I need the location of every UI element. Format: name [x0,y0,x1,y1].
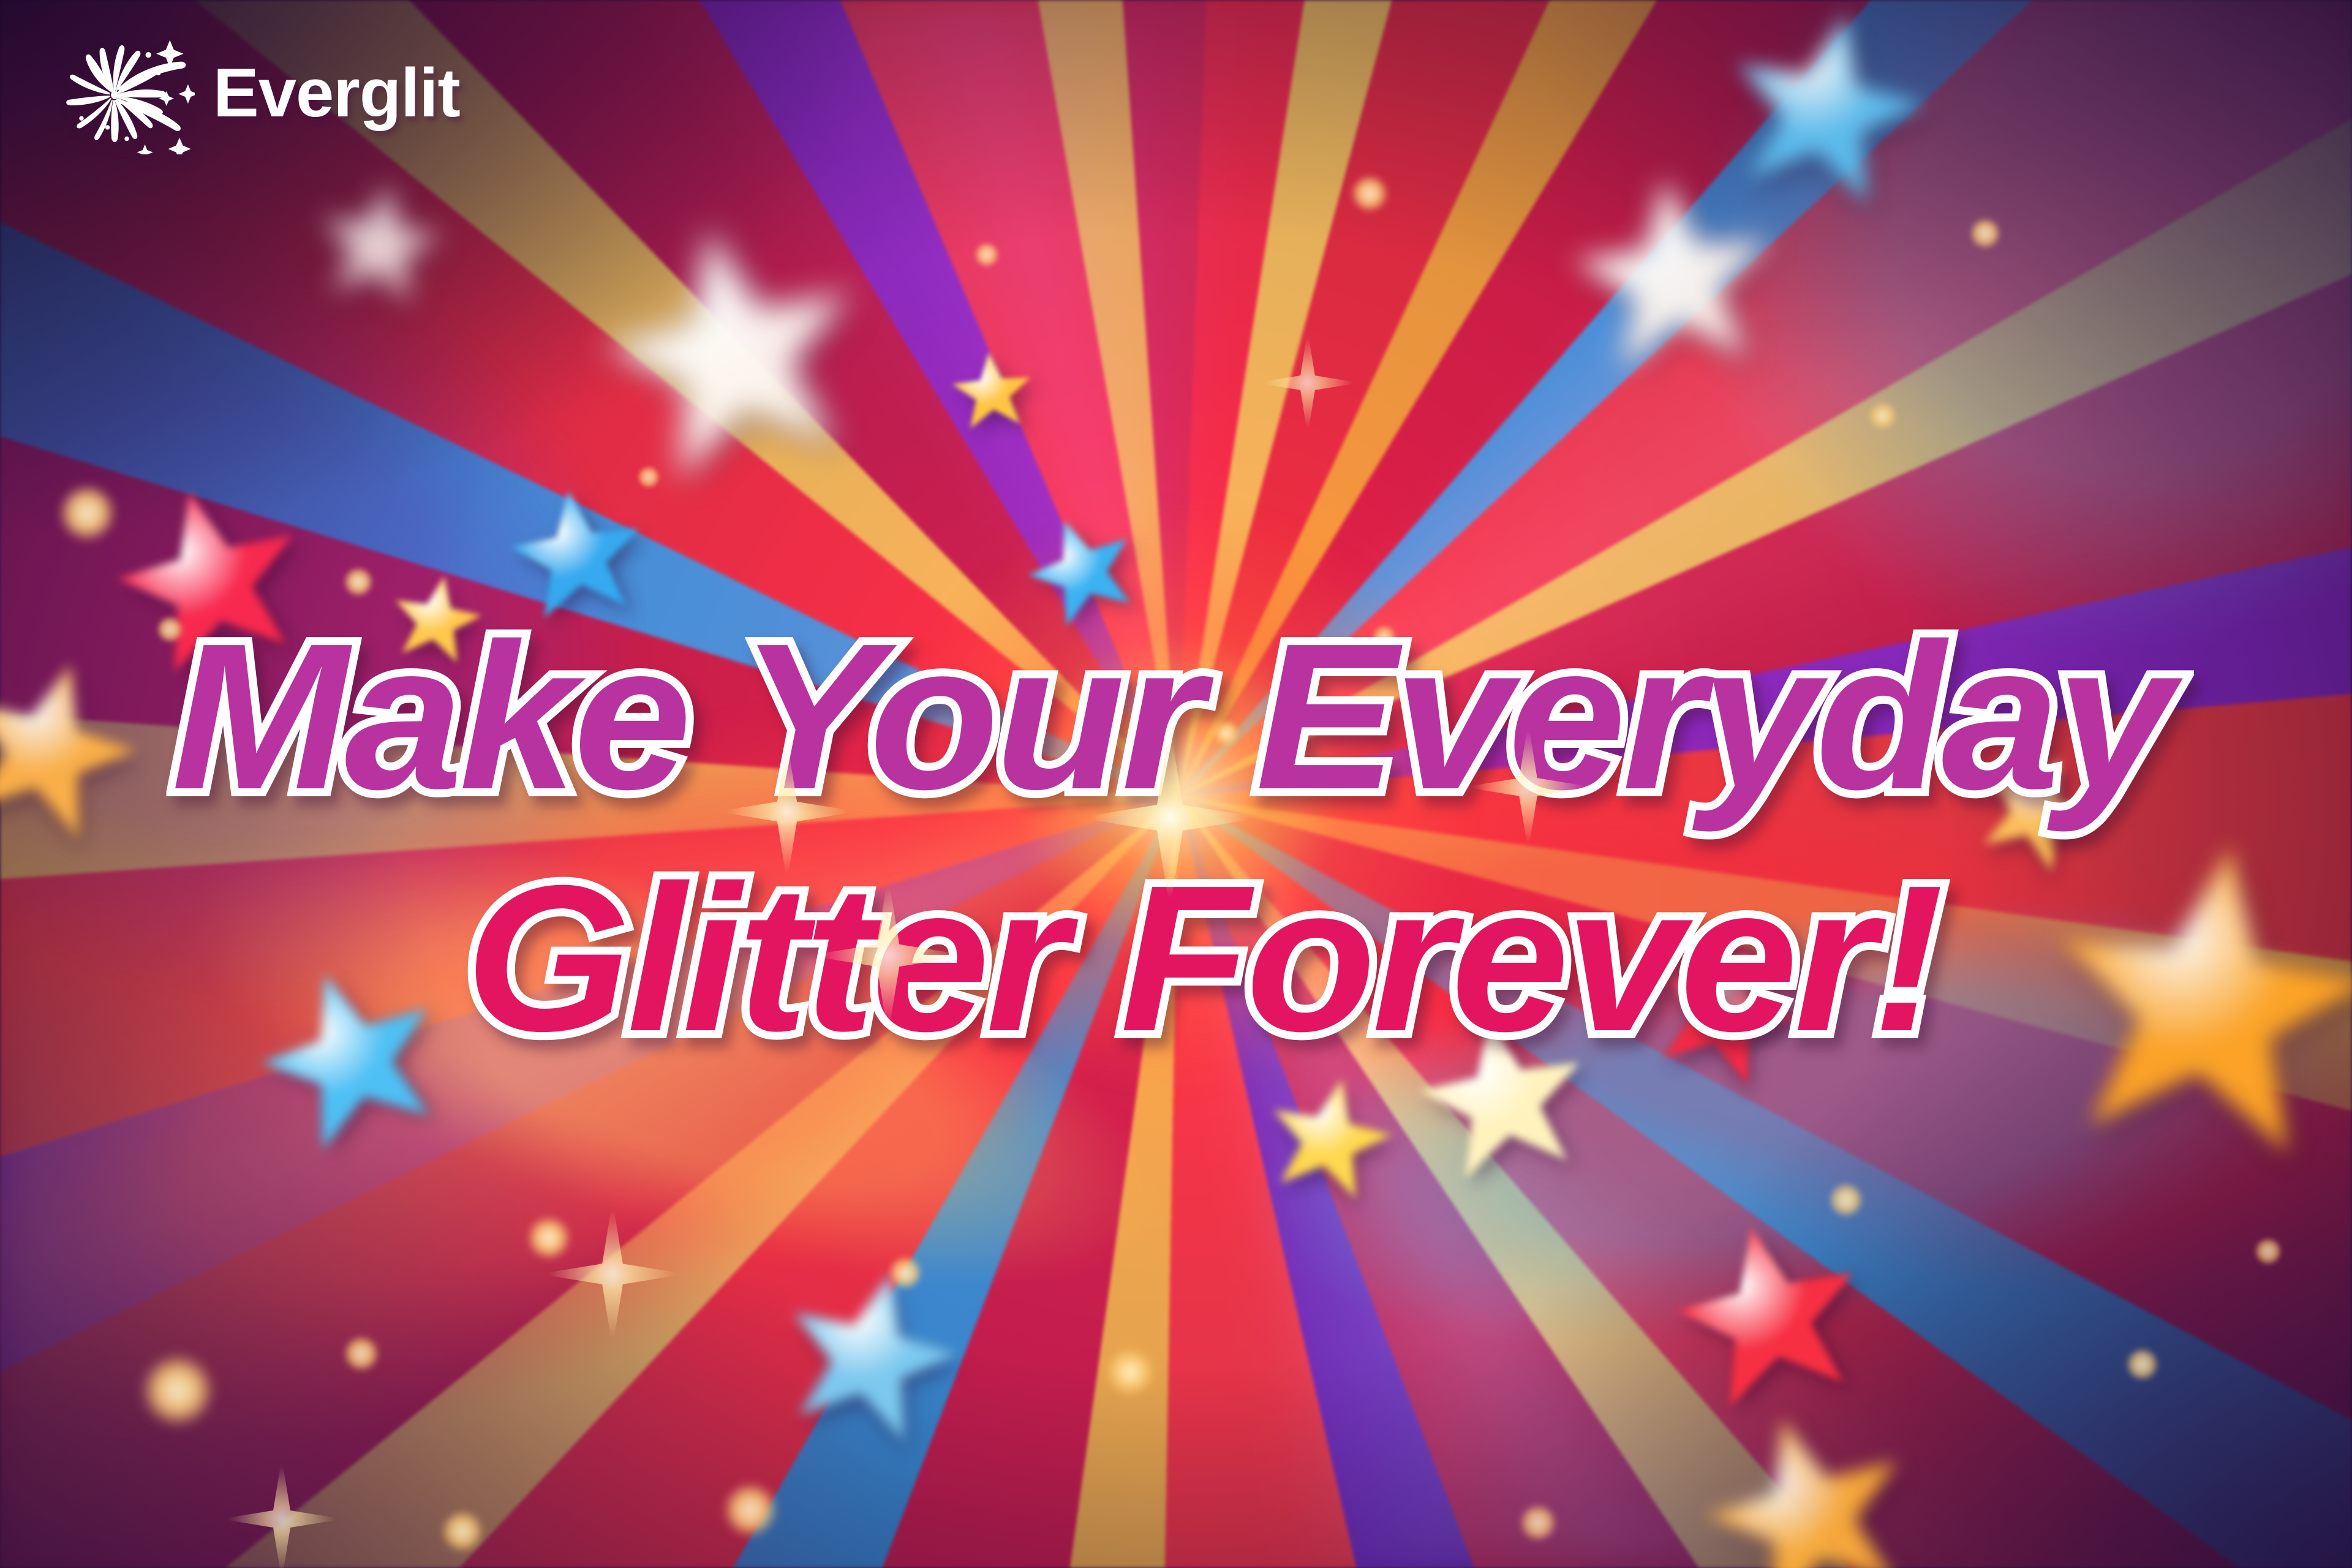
bokeh-20 [723,1482,778,1537]
bokeh-5 [527,1216,571,1260]
bokeh-2 [343,567,374,597]
bokeh-4 [481,989,507,1015]
bokeh-10 [1351,175,1389,213]
bokeh-9 [343,1335,380,1372]
decorative-bokeh-layer [0,0,2352,1568]
bokeh-6 [888,1256,922,1290]
bokeh-7 [1106,1347,1155,1396]
firework-burst-sparkle-icon [59,32,195,154]
bokeh-15 [1213,720,1240,747]
bokeh-13 [1868,401,1898,431]
bokeh-12 [1969,217,2001,249]
bokeh-3 [156,616,184,643]
bokeh-17 [637,466,660,489]
bokeh-18 [2125,1347,2159,1381]
bokeh-14 [1828,1182,1864,1218]
bokeh-22 [441,1510,484,1553]
bokeh-11 [974,242,1000,268]
bokeh-1 [58,484,116,542]
brand-name: Everglit [213,59,460,127]
bokeh-21 [1519,1504,1557,1542]
promo-banner: Everglit Make Your Everyday Glitter Fore… [0,0,2352,1568]
bokeh-19 [2254,1237,2282,1265]
bokeh-8 [141,1354,214,1427]
bokeh-16 [1372,625,1396,649]
brand-logo[interactable]: Everglit [59,32,460,154]
